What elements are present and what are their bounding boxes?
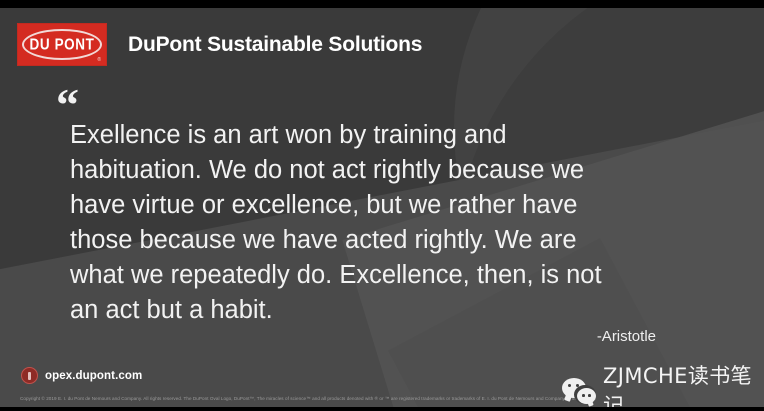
page-title: DuPont Sustainable Solutions xyxy=(128,33,422,57)
footer-website-link[interactable]: opex.dupont.com xyxy=(21,367,142,384)
quote-line: Exellence is an art won by training and xyxy=(70,118,670,153)
wechat-dot xyxy=(588,394,591,397)
wechat-dot xyxy=(582,394,585,397)
quote-line: an act but a habit. xyxy=(70,293,670,328)
slide-container: DU PONT ® DuPont Sustainable Solutions “… xyxy=(0,0,764,411)
dupont-oval-logo-icon: DU PONT ® xyxy=(18,24,106,65)
logo-oval-shape: DU PONT ® xyxy=(22,29,102,60)
slide-content: DU PONT ® DuPont Sustainable Solutions “… xyxy=(0,8,764,407)
wechat-watermark-label: ZJMCHE读书笔记 xyxy=(603,360,764,407)
quote-text: Exellence is an art won by training and … xyxy=(70,118,670,328)
logo-wordmark: DU PONT xyxy=(30,37,95,53)
logo-registered-mark: ® xyxy=(97,57,101,63)
quote-line: have virtue or excellence, but we rather… xyxy=(70,188,670,223)
opex-circle-icon xyxy=(21,367,38,384)
wechat-bubble-small xyxy=(577,388,596,404)
wechat-icon xyxy=(562,376,596,404)
quote-line: what we repeatedly do. Excellence, then,… xyxy=(70,258,670,293)
quote-line: those because we have acted rightly. We … xyxy=(70,223,670,258)
quote-line: habituation. We do not act rightly becau… xyxy=(70,153,670,188)
slide-stage: DU PONT ® DuPont Sustainable Solutions “… xyxy=(0,8,764,407)
footer-link-label: opex.dupont.com xyxy=(45,370,142,382)
slide-header: DU PONT ® DuPont Sustainable Solutions xyxy=(18,24,422,65)
quote-attribution: -Aristotle xyxy=(70,328,656,345)
wechat-watermark: ZJMCHE读书笔记 xyxy=(562,360,764,407)
